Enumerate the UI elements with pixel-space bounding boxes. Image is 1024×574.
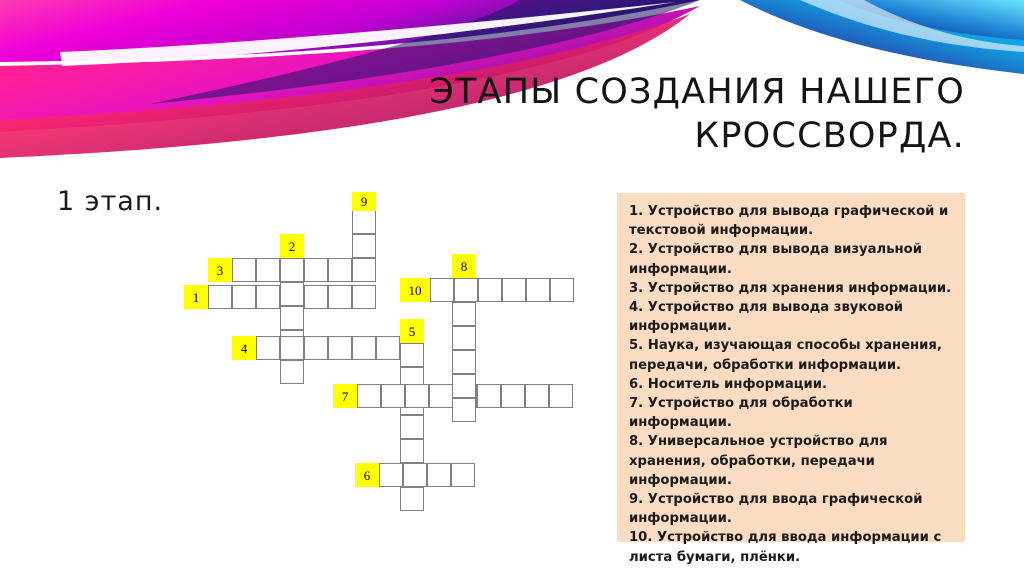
crossword-cell[interactable]: [208, 285, 232, 309]
clue-panel: 1. Устройство для вывода графической и т…: [617, 193, 965, 542]
crossword-cell[interactable]: [400, 343, 424, 367]
clue-item-9: 9. Устройство для ввода графической инфо…: [629, 490, 953, 528]
crossword-cell[interactable]: [376, 336, 400, 360]
clue-item-7: 7. Устройство для обработки информации.: [629, 394, 953, 432]
crossword-cell[interactable]: [452, 302, 476, 326]
clue-item-4: 4. Устройство для вывода звуковой информ…: [629, 298, 953, 336]
crossword-number-5: 5: [400, 319, 424, 343]
crossword-cell[interactable]: [478, 278, 502, 302]
crossword-cell[interactable]: [427, 463, 451, 487]
crossword-cell[interactable]: [549, 384, 573, 408]
crossword-number-9: 9: [352, 192, 376, 211]
crossword-cell[interactable]: [280, 306, 304, 330]
clue-item-8: 8. Универсальное устройство для хранения…: [629, 432, 953, 490]
crossword-cell[interactable]: [452, 350, 476, 374]
crossword-number-2: 2: [280, 234, 304, 258]
crossword-cell[interactable]: [381, 384, 405, 408]
crossword-cell[interactable]: [454, 278, 478, 302]
crossword-cell[interactable]: [256, 285, 280, 309]
crossword-cell[interactable]: [403, 463, 427, 487]
crossword-cell[interactable]: [280, 360, 304, 384]
crossword-cell[interactable]: [526, 278, 550, 302]
crossword-number-1: 1: [184, 285, 208, 309]
crossword-cell[interactable]: [452, 374, 476, 398]
crossword-cell[interactable]: [400, 439, 424, 463]
crossword-cell[interactable]: [304, 258, 328, 282]
crossword-cell[interactable]: [328, 285, 352, 309]
clue-item-1: 1. Устройство для вывода графической и т…: [629, 202, 953, 240]
crossword-number-3: 3: [208, 258, 232, 282]
crossword-cell[interactable]: [232, 285, 256, 309]
crossword-cell[interactable]: [501, 384, 525, 408]
clue-item-2: 2. Устройство для вывода визуальной инфо…: [629, 240, 953, 278]
crossword-cell[interactable]: [256, 336, 280, 360]
crossword-number-6: 6: [355, 463, 379, 487]
crossword-cell[interactable]: [352, 285, 376, 309]
crossword-cell[interactable]: [352, 336, 376, 360]
crossword-cell[interactable]: [280, 258, 304, 282]
crossword-cell[interactable]: [232, 258, 256, 282]
crossword-cell[interactable]: [451, 463, 475, 487]
crossword-cell[interactable]: [429, 384, 453, 408]
crossword-cell[interactable]: [405, 384, 429, 408]
crossword-cell[interactable]: [525, 384, 549, 408]
crossword-cell[interactable]: [452, 398, 476, 422]
crossword-cell[interactable]: [452, 326, 476, 350]
crossword-cell[interactable]: [400, 415, 424, 439]
crossword-number-4: 4: [232, 336, 256, 360]
crossword-cell[interactable]: [400, 487, 424, 511]
clue-item-10: 10. Устройство для ввода информации с ли…: [629, 528, 953, 566]
clue-item-6: 6. Носитель информации.: [629, 375, 953, 394]
crossword-cell[interactable]: [304, 285, 328, 309]
crossword-cell[interactable]: [502, 278, 526, 302]
crossword-cell[interactable]: [477, 384, 501, 408]
crossword-cell[interactable]: [328, 258, 352, 282]
crossword-number-10: 10: [400, 278, 430, 302]
crossword-number-8: 8: [452, 254, 476, 278]
crossword-number-7: 7: [333, 384, 357, 408]
crossword-cell[interactable]: [304, 336, 328, 360]
clue-item-3: 3. Устройство для хранения информации.: [629, 279, 953, 298]
crossword-cell[interactable]: [280, 336, 304, 360]
crossword-cell[interactable]: [352, 210, 376, 234]
crossword-cell[interactable]: [352, 234, 376, 258]
clue-item-5: 5. Наука, изучающая способы хранения, пе…: [629, 336, 953, 374]
crossword-grid: 12345678910: [0, 0, 620, 574]
crossword-cell[interactable]: [352, 258, 376, 282]
crossword-cell[interactable]: [430, 278, 454, 302]
crossword-cell[interactable]: [280, 282, 304, 306]
crossword-cell[interactable]: [256, 258, 280, 282]
crossword-cell[interactable]: [550, 278, 574, 302]
crossword-cell[interactable]: [379, 463, 403, 487]
crossword-cell[interactable]: [328, 336, 352, 360]
crossword-cell[interactable]: [357, 384, 381, 408]
